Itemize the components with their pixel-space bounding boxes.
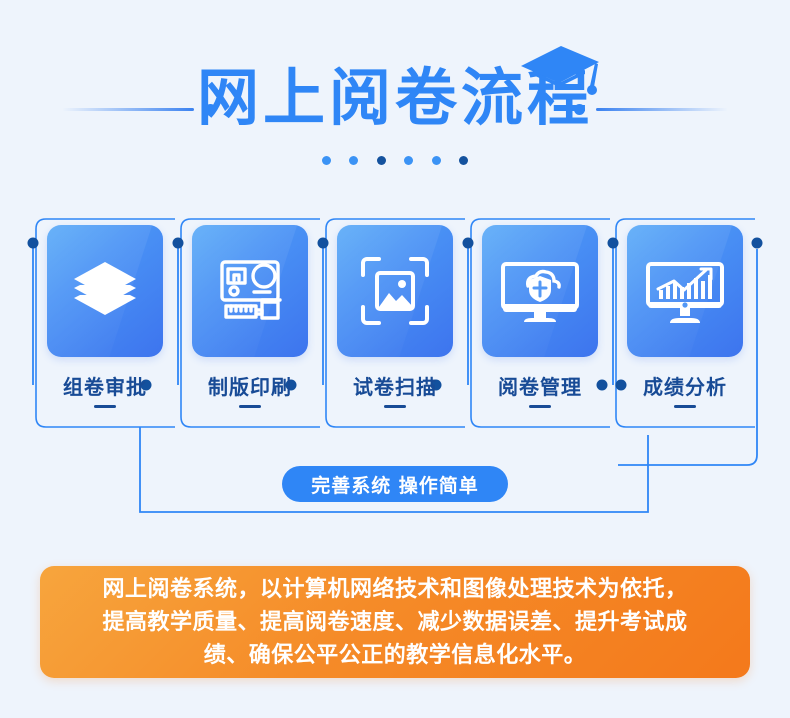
step-label: 成绩分析	[627, 371, 743, 400]
page-title: 网上阅卷流程	[0, 62, 790, 134]
summary-line-3: 绩、确保公平公正的教学信息化水平。	[204, 642, 587, 668]
step-card-2[interactable]: 试卷扫描	[337, 225, 453, 408]
header-dot	[459, 156, 468, 165]
step-underline	[239, 405, 261, 408]
summary-line-2: 提高教学质量、提高阅卷速度、减少数据误差、提升考试成	[102, 609, 687, 635]
step-card-0[interactable]: 组卷审批	[47, 225, 163, 408]
summary-panel: 网上阅卷系统，以计算机网络技术和图像处理技术为依托， 提高教学质量、提高阅卷速度…	[40, 566, 750, 678]
step-underline	[529, 405, 551, 408]
summary-text: 网上阅卷系统，以计算机网络技术和图像处理技术为依托， 提高教学质量、提高阅卷速度…	[80, 573, 709, 672]
step-underline	[384, 405, 406, 408]
header-dot	[404, 156, 413, 165]
step-card-4[interactable]: 成绩分析	[627, 225, 743, 408]
step-label: 组卷审批	[47, 371, 163, 400]
step-underline	[674, 405, 696, 408]
header-dot-row	[0, 152, 790, 170]
layers-stack-icon	[68, 254, 142, 328]
feature-badge: 完善系统 操作简单	[282, 466, 508, 502]
summary-line-1: 网上阅卷系统，以计算机网络技术和图像处理技术为依托，	[102, 576, 687, 602]
header-dot	[349, 156, 358, 165]
monitor-shield-icon	[500, 256, 580, 326]
step-icon-tile	[47, 225, 163, 357]
step-icon-tile	[482, 225, 598, 357]
step-icon-tile	[192, 225, 308, 357]
header-section: 网上阅卷流程	[0, 0, 790, 185]
monitor-chart-icon	[644, 256, 726, 326]
graduation-cap-icon	[511, 42, 607, 104]
step-underline	[94, 405, 116, 408]
step-card-3[interactable]: 阅卷管理	[482, 225, 598, 408]
step-label: 制版印刷	[192, 371, 308, 400]
step-label: 试卷扫描	[337, 371, 453, 400]
infographic-page: 网上阅卷流程	[0, 0, 790, 718]
step-label: 阅卷管理	[482, 371, 598, 400]
header-dot	[432, 156, 441, 165]
step-card-1[interactable]: 制版印刷	[192, 225, 308, 408]
header-dot	[377, 156, 386, 165]
image-scan-icon	[357, 253, 433, 329]
header-dot	[322, 156, 331, 165]
printing-press-icon	[210, 254, 290, 328]
step-card-list: 组卷审批	[0, 205, 790, 455]
step-icon-tile	[337, 225, 453, 357]
step-icon-tile	[627, 225, 743, 357]
